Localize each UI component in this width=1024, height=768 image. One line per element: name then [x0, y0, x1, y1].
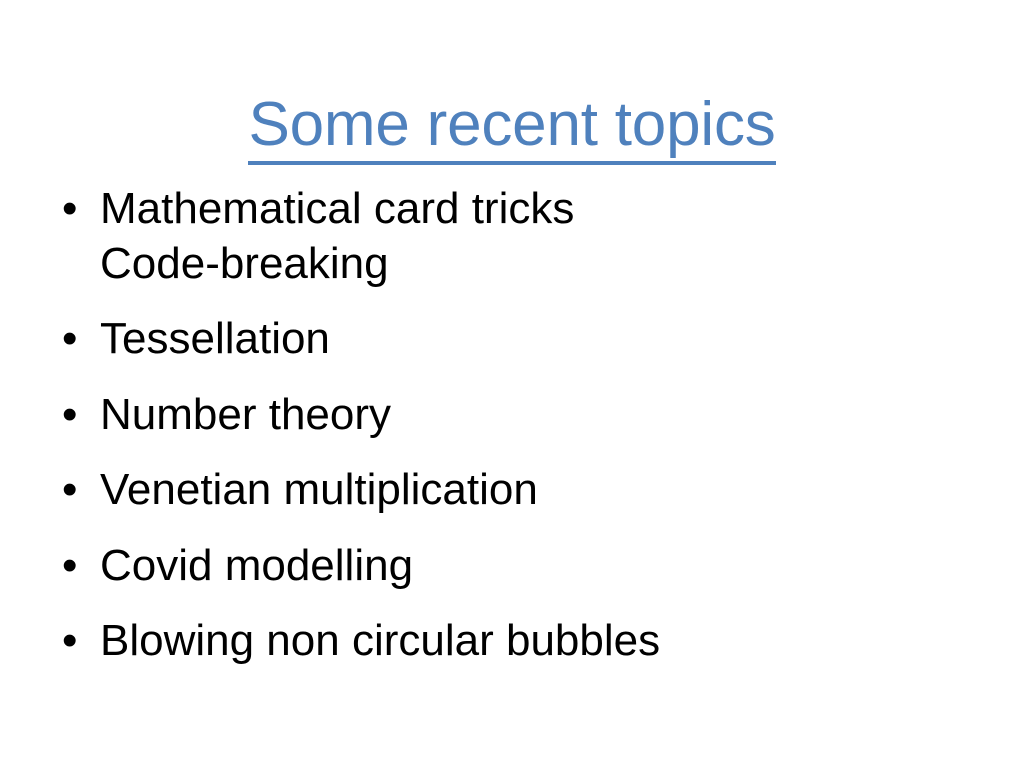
bullet-icon: • — [62, 539, 82, 594]
content-placeholder: • Mathematical card tricks Code-breaking… — [0, 182, 1024, 669]
list-item: • Tessellation — [0, 312, 1024, 367]
list-item-line: Venetian multiplication — [100, 463, 1024, 518]
bullet-icon: • — [62, 182, 82, 237]
list-item-line: Blowing non circular bubbles — [100, 614, 1024, 669]
topic-bullet-list: • Mathematical card tricks Code-breaking… — [0, 182, 1024, 669]
bullet-icon: • — [62, 388, 82, 443]
list-item-line: Tessellation — [100, 312, 1024, 367]
list-item-line: Number theory — [100, 388, 1024, 443]
list-item-line: Covid modelling — [100, 539, 1024, 594]
list-item: • Mathematical card tricks Code-breaking — [0, 182, 1024, 291]
list-item: • Covid modelling — [0, 539, 1024, 594]
list-item-line: Code-breaking — [100, 237, 1024, 292]
page-title: Some recent topics — [248, 94, 775, 165]
list-item: • Blowing non circular bubbles — [0, 614, 1024, 669]
bullet-icon: • — [62, 312, 82, 367]
bullet-icon: • — [62, 463, 82, 518]
bullet-icon: • — [62, 614, 82, 669]
presentation-slide: Some recent topics • Mathematical card t… — [0, 0, 1024, 768]
list-item: • Venetian multiplication — [0, 463, 1024, 518]
list-item-line: Mathematical card tricks — [100, 182, 1024, 237]
list-item: • Number theory — [0, 388, 1024, 443]
